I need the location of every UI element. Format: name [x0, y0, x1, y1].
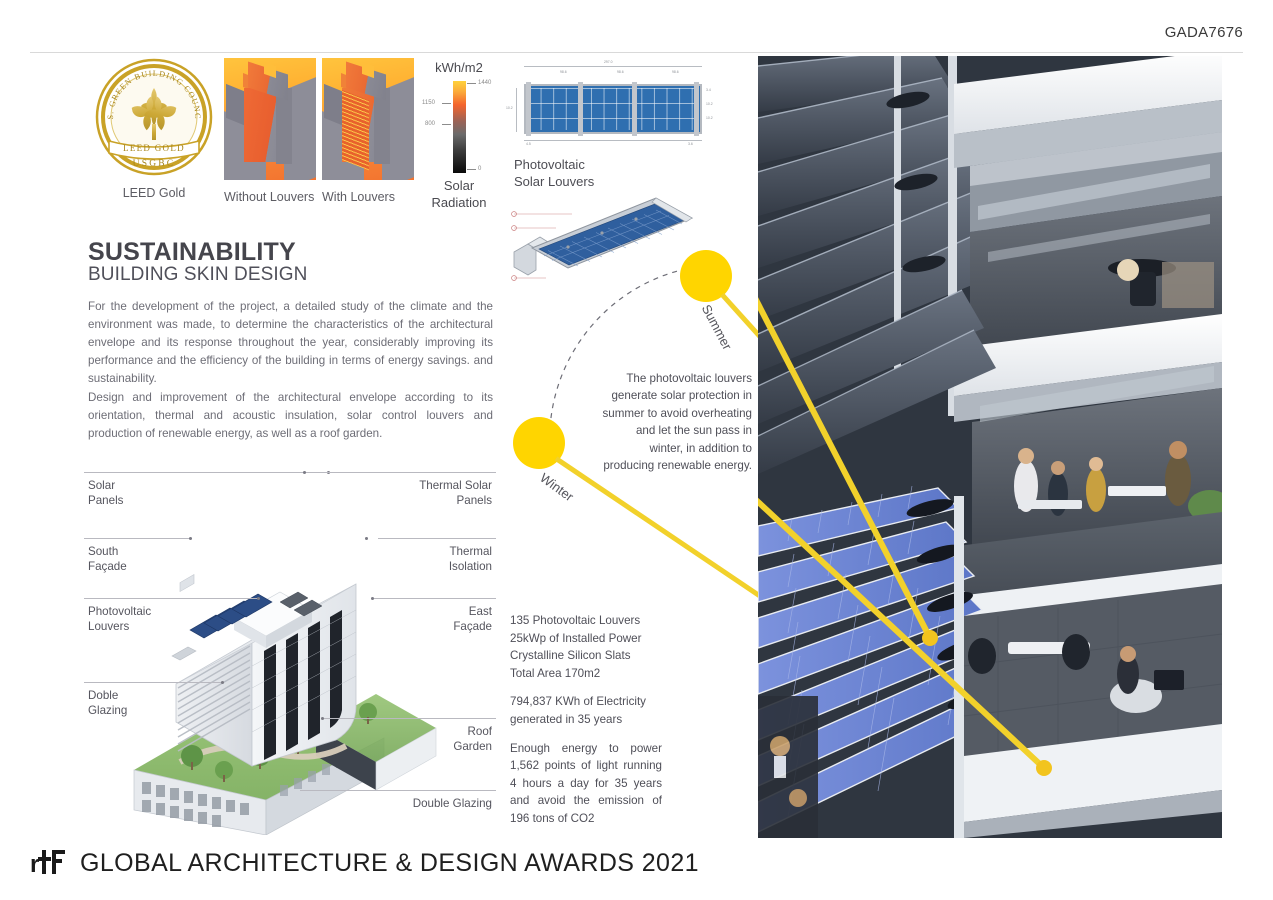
- dim-bottom-last: 3.6: [688, 142, 693, 146]
- thermal-caption-2: With Louvers: [322, 189, 414, 206]
- leed-certification: U.S. GREEN BUILDING COUNCIL LEED GOLD US…: [88, 58, 220, 202]
- legend-unit: kWh/m2: [420, 60, 498, 75]
- thermal-caption-1: Without Louvers: [224, 189, 316, 206]
- legend-label-line1: Solar: [420, 178, 498, 195]
- dim-side: 10.2: [506, 106, 513, 110]
- dim-bottom-first: 4.5: [526, 142, 531, 146]
- legend-label-line2: Radiation: [420, 195, 498, 212]
- callout-thermal-solar-panels: Thermal SolarPanels: [419, 478, 492, 509]
- body-paragraph-1: For the development of the project, a de…: [88, 298, 493, 388]
- callout-south-facade: SouthFaçade: [88, 544, 127, 575]
- legend-tick-0: 0: [478, 166, 481, 172]
- leed-gold-seal-icon: U.S. GREEN BUILDING COUNCIL LEED GOLD US…: [95, 58, 213, 176]
- thermal-study-with-louvers: With Louvers: [322, 58, 414, 206]
- footer: r GLOBAL ARCHITECTURE & DESIGN AWARDS 20…: [30, 848, 699, 878]
- header-divider: [30, 52, 1243, 53]
- summer-label: Summer: [699, 302, 735, 352]
- footer-title: GLOBAL ARCHITECTURE & DESIGN AWARDS 2021: [80, 849, 699, 878]
- svg-text:USGBC: USGBC: [133, 159, 176, 169]
- callout-east-facade: EastFaçade: [453, 604, 492, 635]
- pv-panel-field: [524, 84, 702, 134]
- callout-doble-glazing: DobleGlazing: [88, 688, 127, 719]
- svg-text:LEED GOLD: LEED GOLD: [123, 143, 185, 153]
- page-subtitle: BUILDING SKIN DESIGN: [88, 264, 308, 286]
- building-systems-diagram: SolarPanels SouthFaçade PhotovoltaicLouv…: [84, 470, 496, 835]
- dim-right-3: 10.2: [706, 116, 713, 120]
- legend-tick-800: 800: [425, 121, 435, 127]
- dim-span-3: 98.6: [672, 70, 679, 74]
- rtf-logo-icon: r: [30, 848, 70, 878]
- thermal-study-without-louvers: Without Louvers: [224, 58, 316, 206]
- dim-overall: 297.0: [604, 60, 613, 64]
- legend-tick-1150: 1150: [422, 100, 435, 106]
- callout-photovoltaic-louvers: PhotovoltaicLouvers: [88, 604, 151, 635]
- legend-tick-1440: 1440: [478, 80, 491, 86]
- dim-right-1: 3.4: [706, 88, 711, 92]
- solar-radiation-render-2: [322, 58, 414, 180]
- callout-double-glazing: Double Glazing: [413, 796, 492, 811]
- project-id: GADA7676: [1165, 24, 1243, 41]
- solar-radiation-render-1: [224, 58, 316, 180]
- leed-caption: LEED Gold: [88, 185, 220, 202]
- body-paragraph-2: Design and improvement of the architectu…: [88, 389, 493, 443]
- sun-diagram-annotation: The photovoltaic louvers generate solar …: [602, 370, 752, 474]
- legend-gradient-bar: [453, 81, 466, 173]
- dim-span-2: 98.6: [617, 70, 624, 74]
- building-interior-render: [758, 56, 1222, 838]
- presentation-board: GADA7676 U.S. GREEN BUILDING COUNCIL: [0, 0, 1273, 900]
- callout-thermal-isolation: ThermalIsolation: [449, 544, 492, 575]
- pv-label-line1: Photovoltaic: [514, 156, 594, 173]
- pv-louver-elevation-drawing: 297.0 98.6 98.6 98.6 4.5 3.6 10.2 3.4 10…: [512, 58, 720, 150]
- page-title: SUSTAINABILITY: [88, 238, 296, 267]
- callout-roof-garden: RoofGarden: [453, 724, 492, 755]
- winter-label: Winter: [537, 470, 576, 504]
- dim-right-2: 10.2: [706, 102, 713, 106]
- callout-solar-panels: SolarPanels: [88, 478, 123, 509]
- svg-text:r: r: [30, 851, 39, 878]
- dim-span-1: 98.6: [560, 70, 567, 74]
- solar-radiation-legend: kWh/m2 1440 1150 800 0 Solar Radiation: [420, 60, 498, 212]
